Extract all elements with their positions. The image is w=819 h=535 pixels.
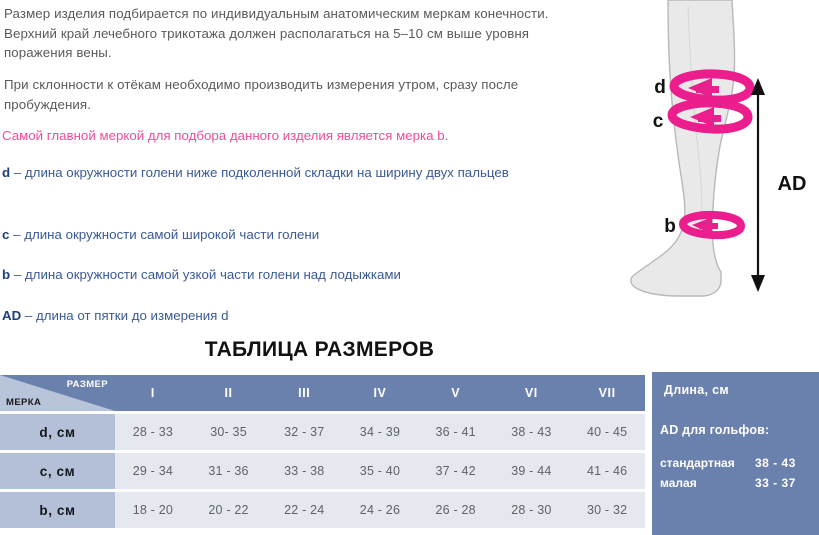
cell-c-7: 41 - 46	[569, 453, 645, 489]
diagram-label-d: d	[654, 77, 666, 98]
cell-b-2: 20 - 22	[191, 492, 267, 528]
cell-d-3: 32 - 37	[266, 414, 342, 450]
ad-dimension-arrow-icon	[751, 78, 765, 292]
leg-diagram-svg: d c b AD	[600, 0, 819, 330]
column-header-4: IV	[342, 375, 418, 411]
definition-ad-text: длина от пятки до измерения d	[36, 308, 228, 323]
definition-c-text: длина окружности самой широкой части гол…	[24, 227, 319, 242]
cell-d-5: 36 - 41	[418, 414, 494, 450]
diagram-label-c: c	[653, 111, 664, 132]
column-header-5: V	[418, 375, 494, 411]
diagram-label-ad: AD	[778, 173, 807, 195]
definition-ad-dash: –	[21, 308, 36, 323]
cell-d-7: 40 - 45	[569, 414, 645, 450]
definition-d: d – длина окружности голени ниже подколе…	[2, 163, 592, 183]
cell-d-4: 34 - 39	[342, 414, 418, 450]
size-guide-page: Размер изделия подбирается по индивидуал…	[0, 0, 819, 535]
length-row-small-value: 33 - 37	[755, 476, 796, 490]
column-header-1: I	[115, 375, 191, 411]
column-header-3: III	[266, 375, 342, 411]
corner-measure-label: МЕРКА	[6, 397, 41, 408]
cell-d-2: 30- 35	[191, 414, 267, 450]
length-panel: Длина, см AD для гольфов: стандартная38 …	[652, 372, 819, 535]
cell-b-4: 24 - 26	[342, 492, 418, 528]
length-row-standard: стандартная38 - 43	[660, 456, 812, 470]
cell-b-6: 28 - 30	[494, 492, 570, 528]
cell-c-3: 33 - 38	[266, 453, 342, 489]
cell-c-2: 31 - 36	[191, 453, 267, 489]
table-header-row: РАЗМЕР МЕРКА I II III IV V VI VII	[0, 375, 645, 411]
definition-c-dash: –	[9, 227, 24, 242]
table-title: ТАБЛИЦА РАЗМЕРОВ	[0, 338, 819, 362]
table-row: d, см 28 - 33 30- 35 32 - 37 34 - 39 36 …	[0, 414, 645, 450]
row-label-d: d, см	[0, 414, 115, 450]
column-header-2: II	[191, 375, 267, 411]
definition-b-dash: –	[10, 267, 25, 282]
size-table: РАЗМЕР МЕРКА I II III IV V VI VII d, см …	[0, 372, 645, 531]
leg-measurement-diagram: d c b AD	[600, 0, 819, 330]
definition-c: c – длина окружности самой широкой части…	[2, 225, 592, 245]
diagram-label-b: b	[664, 216, 676, 237]
corner-size-label: РАЗМЕР	[67, 379, 108, 390]
definition-ad: AD – длина от пятки до измерения d	[2, 306, 592, 326]
length-row-standard-name: стандартная	[660, 456, 755, 470]
cell-d-1: 28 - 33	[115, 414, 191, 450]
definition-b: b – длина окружности самой узкой части г…	[2, 265, 592, 285]
length-panel-subtitle: AD для гольфов:	[660, 423, 769, 437]
definition-ad-key: AD	[2, 308, 21, 323]
row-label-b: b, см	[0, 492, 115, 528]
column-header-7: VII	[569, 375, 645, 411]
length-row-small-name: малая	[660, 476, 755, 490]
cell-d-6: 38 - 43	[494, 414, 570, 450]
length-row-small: малая33 - 37	[660, 476, 812, 490]
cell-b-7: 30 - 32	[569, 492, 645, 528]
table-corner-cell: РАЗМЕР МЕРКА	[0, 375, 115, 411]
length-row-standard-value: 38 - 43	[755, 456, 796, 470]
table-row: b, см 18 - 20 20 - 22 22 - 24 24 - 26 26…	[0, 492, 645, 528]
definition-d-key: d	[2, 165, 10, 180]
cell-c-4: 35 - 40	[342, 453, 418, 489]
intro-paragraph-2: При склонности к отёкам необходимо произ…	[2, 75, 593, 114]
cell-c-5: 37 - 42	[418, 453, 494, 489]
intro-paragraph-1: Размер изделия подбирается по индивидуал…	[2, 4, 593, 63]
cell-b-5: 26 - 28	[418, 492, 494, 528]
definition-b-key: b	[2, 267, 10, 282]
cell-c-6: 39 - 44	[494, 453, 570, 489]
definition-d-dash: –	[10, 165, 25, 180]
length-panel-title: Длина, см	[664, 383, 729, 397]
definition-b-text: длина окружности самой узкой части голен…	[25, 267, 401, 282]
cell-b-3: 22 - 24	[266, 492, 342, 528]
highlight-note: Самой главной меркой для подбора данного…	[2, 126, 602, 145]
row-label-c: с, см	[0, 453, 115, 489]
size-table-wrapper: РАЗМЕР МЕРКА I II III IV V VI VII d, см …	[0, 372, 645, 531]
cell-c-1: 29 - 34	[115, 453, 191, 489]
cell-b-1: 18 - 20	[115, 492, 191, 528]
definition-d-text: длина окружности голени ниже подколенной…	[25, 165, 509, 180]
table-row: с, см 29 - 34 31 - 36 33 - 38 35 - 40 37…	[0, 453, 645, 489]
column-header-6: VI	[494, 375, 570, 411]
leg-silhouette-icon	[631, 0, 735, 296]
